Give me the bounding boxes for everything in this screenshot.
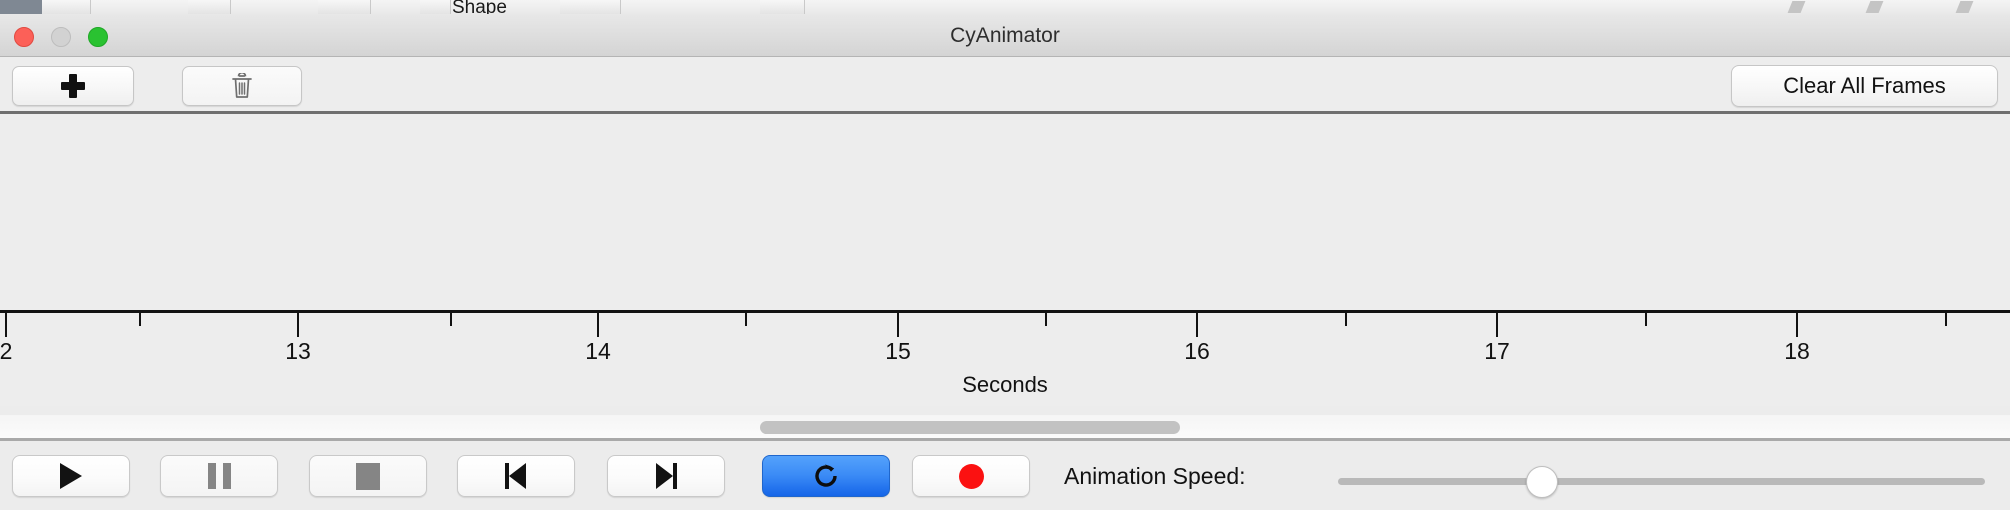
axis-tick (1796, 313, 1798, 337)
record-button[interactable] (912, 455, 1030, 497)
background-chip (42, 0, 91, 14)
pause-icon (208, 463, 231, 489)
record-icon (959, 464, 984, 489)
background-chip (0, 0, 42, 14)
background-window-strip: Shape (0, 0, 2010, 14)
trash-icon (231, 73, 253, 99)
axis-tick-label: 17 (1484, 338, 1510, 365)
axis-tick (1945, 313, 1947, 326)
axis-tick (1045, 313, 1047, 326)
axis-tick (897, 313, 899, 337)
animation-speed-label: Animation Speed: (1064, 463, 1246, 490)
skip-back-button[interactable] (457, 455, 575, 497)
background-chip (188, 0, 231, 14)
timeline-scrollbar[interactable] (0, 415, 2010, 441)
background-chip (318, 0, 371, 14)
axis-title: Seconds (0, 372, 2010, 398)
loop-icon (811, 461, 841, 491)
slider-track[interactable] (1338, 478, 1985, 485)
axis-tick (1196, 313, 1198, 337)
axis-tick-label: 2 (0, 338, 12, 365)
pause-button[interactable] (160, 455, 278, 497)
axis-tick (1496, 313, 1498, 337)
axis-tick (5, 313, 7, 337)
axis-tick (139, 313, 141, 326)
axis-tick (1645, 313, 1647, 326)
axis-tick (745, 313, 747, 326)
animation-speed-slider[interactable] (1338, 467, 1985, 497)
window-title: CyAnimator (0, 14, 2010, 57)
play-icon (60, 463, 82, 489)
stop-icon (356, 463, 380, 490)
axis-tick-label: 14 (585, 338, 611, 365)
axis-tick (597, 313, 599, 337)
background-tick-icon (1866, 1, 1884, 13)
axis-tick (297, 313, 299, 337)
cyanimator-window: Shape CyAnimator Clear All Frames (0, 0, 2010, 510)
axis-tick-label: 18 (1784, 338, 1810, 365)
loop-button[interactable] (762, 455, 890, 497)
titlebar: CyAnimator (0, 14, 2010, 57)
background-chip (560, 0, 621, 14)
axis-tick-label: 15 (885, 338, 911, 365)
add-frame-button[interactable] (12, 66, 134, 106)
timeline-axis: 2131415161718 Seconds (0, 310, 2010, 406)
skip-forward-icon (653, 463, 679, 489)
axis-line (0, 310, 2010, 313)
delete-frame-button[interactable] (182, 66, 302, 106)
skip-back-icon (503, 463, 529, 489)
stop-button[interactable] (309, 455, 427, 497)
axis-tick-label: 13 (285, 338, 311, 365)
axis-tick (450, 313, 452, 326)
axis-tick (1345, 313, 1347, 326)
play-button[interactable] (12, 455, 130, 497)
background-tick-icon (1788, 1, 1806, 13)
scrollbar-thumb[interactable] (760, 421, 1180, 434)
skip-forward-button[interactable] (607, 455, 725, 497)
clear-all-frames-button[interactable]: Clear All Frames (1731, 65, 1998, 107)
plus-icon (60, 73, 86, 99)
axis-tick-label: 16 (1184, 338, 1210, 365)
background-tick-icon (1956, 1, 1974, 13)
timeline-panel[interactable]: MCM1 (0, 114, 2010, 312)
playback-controls: Animation Speed: (0, 441, 2010, 510)
toolbar: Clear All Frames (0, 57, 2010, 114)
background-chip (420, 0, 451, 14)
slider-thumb[interactable] (1526, 466, 1558, 498)
background-chip (760, 0, 805, 14)
background-window-label: Shape (452, 0, 507, 14)
